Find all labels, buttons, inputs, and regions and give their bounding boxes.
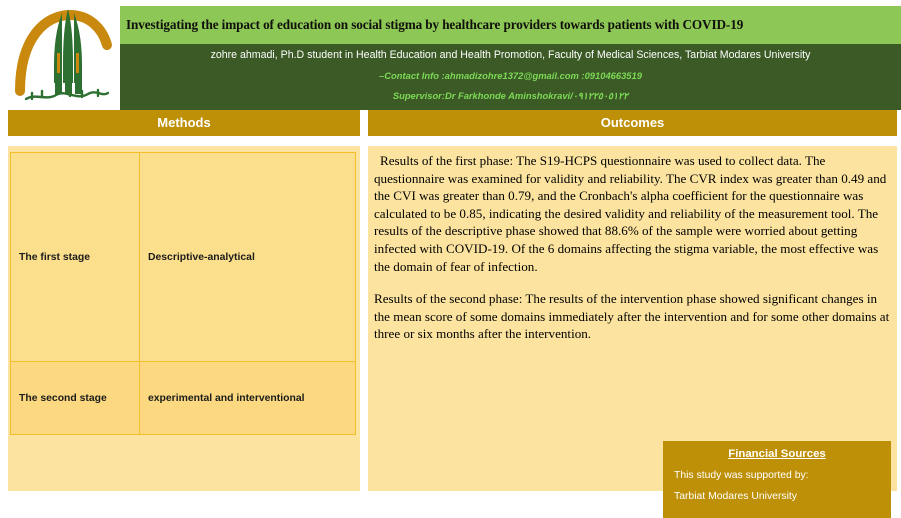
financial-sources-title: Financial Sources: [663, 441, 891, 460]
poster-title-band: Investigating the impact of education on…: [120, 6, 901, 44]
supervisor-info: Supervisor:Dr Farkhonde Aminshokravi/٠٩١…: [120, 90, 901, 102]
poster-authors: zohre ahmadi, Ph.D student in Health Edu…: [120, 49, 901, 61]
poster-title: Investigating the impact of education on…: [120, 17, 743, 33]
methods-stage-cell: The first stage: [11, 153, 140, 362]
methods-design-cell: Descriptive-analytical: [140, 153, 356, 362]
tarbiat-modares-logo-icon: [12, 7, 116, 105]
outcomes-section-header: Outcomes: [368, 110, 897, 136]
financial-sources-box: Financial Sources This study was support…: [663, 441, 891, 518]
outcomes-panel: Results of the first phase: The S19-HCPS…: [368, 146, 897, 491]
poster-header: Investigating the impact of education on…: [0, 0, 901, 110]
outcomes-paragraph-one: Results of the first phase: The S19-HCPS…: [374, 152, 891, 275]
methods-panel: The first stage Descriptive-analytical T…: [8, 146, 360, 491]
methods-section: Methods The first stage Descriptive-anal…: [8, 110, 360, 491]
outcomes-paragraph-two: Results of the second phase: The results…: [374, 290, 891, 343]
contact-info: –Contact Info :ahmadizohre1372@gmail.com…: [120, 70, 901, 81]
methods-table: The first stage Descriptive-analytical T…: [10, 152, 356, 435]
poster-author-band: zohre ahmadi, Ph.D student in Health Edu…: [120, 44, 901, 110]
table-row: The first stage Descriptive-analytical: [11, 153, 356, 362]
university-logo: [8, 4, 120, 108]
outcomes-body-text: Results of the first phase: The S19-HCPS…: [374, 152, 891, 358]
outcomes-section: Outcomes Results of the first phase: The…: [368, 110, 897, 491]
methods-design-cell: experimental and interventional: [140, 362, 356, 435]
methods-stage-cell: The second stage: [11, 362, 140, 435]
financial-funder-name: Tarbiat Modares University: [663, 481, 891, 502]
methods-section-header: Methods: [8, 110, 360, 136]
table-row: The second stage experimental and interv…: [11, 362, 356, 435]
financial-supported-by-label: This study was supported by:: [663, 460, 891, 481]
